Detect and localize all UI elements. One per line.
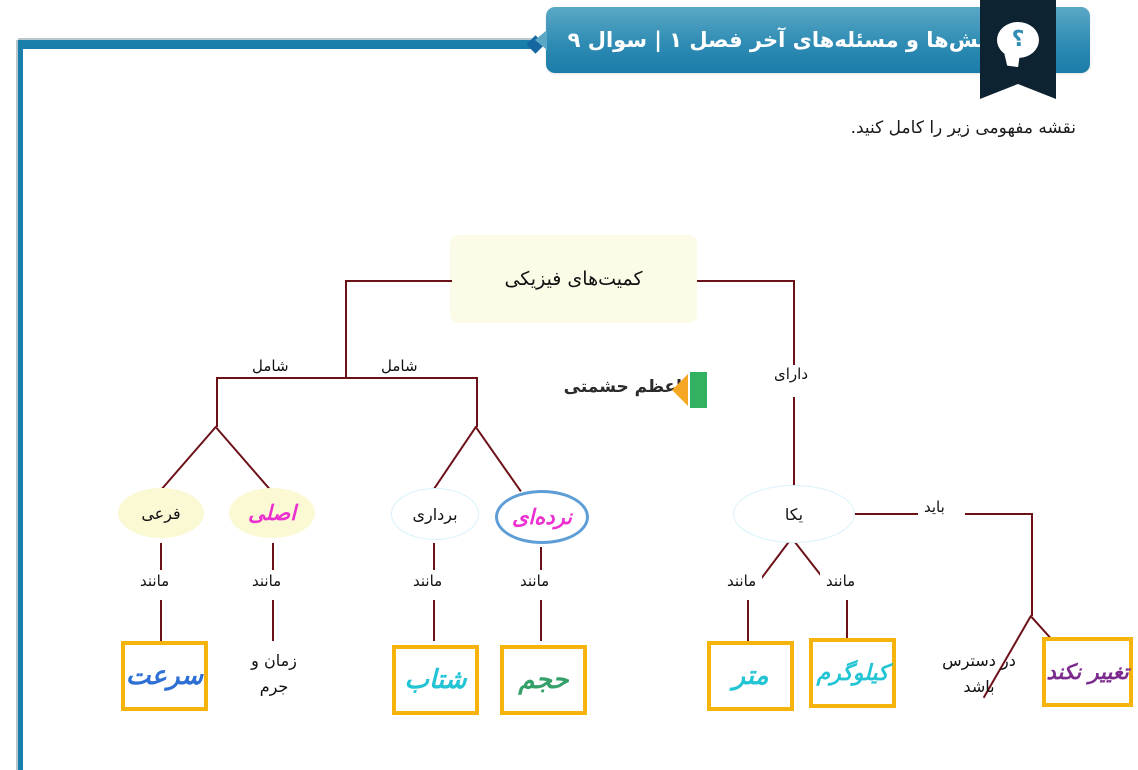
edge-label-manand-1: مانند <box>134 572 175 590</box>
prompt-text: نقشه مفهومی زیر را کامل کنید. <box>851 118 1076 138</box>
banner-notch-icon <box>535 30 547 50</box>
question-speech-bubble-icon: ؟ <box>997 22 1039 58</box>
node-bordari: برداری <box>391 488 479 540</box>
edge-daraye-lower <box>793 397 795 490</box>
edge-daraye-upper <box>793 280 795 365</box>
edge-fork-mid-to-nardeei <box>475 427 521 492</box>
watermark-text: اعظم حشمتی <box>564 377 682 397</box>
leaf-zaman-jerm-label: زمان و جرم <box>251 651 297 696</box>
node-root-label: کمیت‌های فیزیکی <box>504 268 642 290</box>
edge-bayad-drop <box>1031 513 1033 616</box>
edge-label-shamel-right: شامل <box>375 357 424 375</box>
edge-manand5-bottom <box>747 600 749 641</box>
watermark-logo-green-icon <box>690 372 707 408</box>
edge-label-manand-3: مانند <box>407 572 448 590</box>
edge-fork-left-to-farei <box>159 426 217 492</box>
leaf-zaman-jerm: زمان و جرم <box>238 648 310 701</box>
question-mark-glyph: ؟ <box>997 22 1039 58</box>
edge-manand2-top <box>272 543 274 570</box>
leaf-kilogeram-label: کیلوگرم <box>817 661 889 686</box>
node-root-physical-quantities: کمیت‌های فیزیکی <box>450 235 697 323</box>
edge-shamel-left-drop <box>216 377 218 427</box>
page-frame-vertical <box>18 40 23 770</box>
edge-shamel-horizontal <box>216 377 476 379</box>
edge-manand1-bottom <box>160 600 162 641</box>
node-asli: اصلی <box>229 488 315 538</box>
edge-bayad-left <box>845 513 923 515</box>
edge-label-shamel-left: شامل <box>246 357 295 375</box>
leaf-box-kilogeram: کیلوگرم <box>809 638 896 708</box>
edge-manand1-top <box>160 543 162 570</box>
edge-manand4-top <box>540 547 542 570</box>
leaf-shetab-label: شتاب <box>404 665 466 695</box>
edge-root-right-horizontal <box>697 280 795 282</box>
edge-manand4-bottom <box>540 600 542 641</box>
leaf-hajm-label: حجم <box>518 665 568 695</box>
leaf-taghir-nakonad-label: تغییر نکند <box>1046 660 1128 684</box>
edge-label-manand-4: مانند <box>514 572 555 590</box>
leaf-metr-label: متر <box>732 661 768 691</box>
leaf-box-metr: متر <box>707 641 794 711</box>
edge-fork-left-to-asli <box>215 427 273 493</box>
leaf-dardastras-label: در دسترس باشد <box>942 651 1016 696</box>
edge-label-bayad: باید <box>918 498 951 516</box>
edge-fork-mid-to-bordari <box>432 426 477 492</box>
leaf-box-shetab: شتاب <box>392 645 479 715</box>
edge-bayad-right <box>965 513 1033 515</box>
edge-label-manand-2: مانند <box>246 572 287 590</box>
leaf-sorat-label: سرعت <box>126 661 203 691</box>
node-yeka: یکا <box>733 485 855 543</box>
node-nardeei-label: نرده‌ای <box>512 505 572 529</box>
edge-manand3-top <box>433 543 435 570</box>
edge-label-daraye: دارای <box>768 365 814 383</box>
question-badge-bookmark: ؟ <box>980 0 1056 84</box>
edge-shamel-right-drop <box>476 377 478 427</box>
edge-root-left-vertical <box>345 280 347 378</box>
node-farei-label: فرعی <box>141 504 180 523</box>
node-asli-label: اصلی <box>248 501 296 525</box>
banner-title: پرسش‌ها و مسئله‌های آخر فصل ۱ | سوال ۹ <box>568 7 1020 73</box>
leaf-box-hajm: حجم <box>500 645 587 715</box>
banner-lead-line <box>20 45 538 49</box>
node-yeka-label: یکا <box>785 505 803 524</box>
page-canvas: پرسش‌ها و مسئله‌های آخر فصل ۱ | سوال ۹ ؟… <box>0 0 1138 770</box>
leaf-box-taghir-nakonad: تغییر نکند <box>1042 637 1133 707</box>
node-bordari-label: برداری <box>412 505 457 524</box>
edge-manand3-bottom <box>433 600 435 641</box>
node-farei: فرعی <box>118 488 204 538</box>
edge-label-manand-5: مانند <box>721 572 762 590</box>
edge-manand2-bottom <box>272 600 274 641</box>
edge-label-manand-6: مانند <box>820 572 861 590</box>
edge-manand6-bottom <box>846 600 848 641</box>
edge-root-left-horizontal <box>345 280 452 282</box>
leaf-dardastras: در دسترس باشد <box>933 648 1025 701</box>
watermark: اعظم حشمتی <box>566 368 726 412</box>
watermark-logo-orange-icon <box>672 374 688 406</box>
leaf-box-sorat: سرعت <box>121 641 208 711</box>
node-nardeei: نرده‌ای <box>495 490 589 544</box>
